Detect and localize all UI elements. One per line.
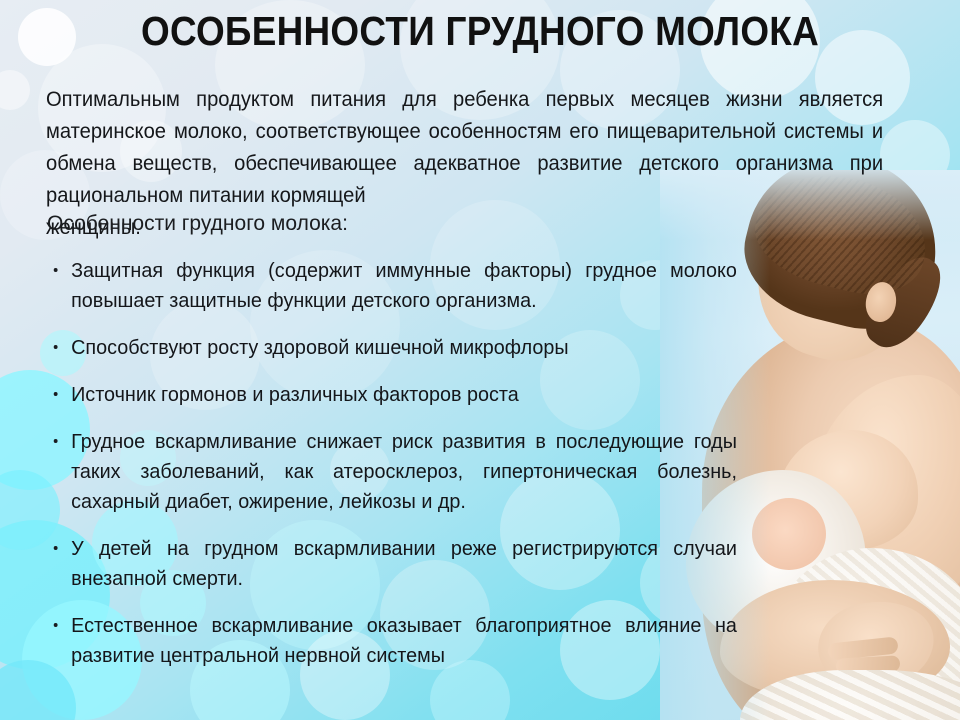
presentation-slide: ОСОБЕННОСТИ ГРУДНОГО МОЛОКА Оптимальным … <box>0 0 960 720</box>
list-item: Способствуют росту здоровой кишечной мик… <box>46 333 694 363</box>
list-item: Естественное вскармливание оказывает бла… <box>46 611 737 671</box>
list-item-text: У детей на грудном вскармливании реже ре… <box>71 537 737 590</box>
list-item-text: Способствуют росту здоровой кишечной мик… <box>71 336 569 359</box>
bullet-dot-icon <box>54 623 58 627</box>
bullet-dot-icon <box>54 546 58 550</box>
bullet-dot-icon <box>54 439 58 443</box>
list-item: Грудное вскармливание снижает риск разви… <box>46 427 737 517</box>
list-item: У детей на грудном вскармливании реже ре… <box>46 534 737 594</box>
subheading: Особенности грудного молока: <box>47 211 348 237</box>
bullet-dot-icon <box>54 392 58 396</box>
intro-text: Оптимальным продуктом питания для ребенк… <box>46 88 883 207</box>
bullet-dot-icon <box>54 345 58 349</box>
bullet-list: Защитная функция (содержит иммунные факт… <box>46 256 718 688</box>
list-item: Защитная функция (содержит иммунные факт… <box>46 256 737 316</box>
bullet-dot-icon <box>54 268 58 272</box>
list-item-text: Защитная функция (содержит иммунные факт… <box>71 259 737 312</box>
list-item-text: Источник гормонов и различных факторов р… <box>71 383 519 406</box>
list-item-text: Естественное вскармливание оказывает бла… <box>71 614 737 667</box>
list-item-text: Грудное вскармливание снижает риск разви… <box>71 430 737 513</box>
page-title: ОСОБЕННОСТИ ГРУДНОГО МОЛОКА <box>48 8 912 54</box>
list-item: Источник гормонов и различных факторов р… <box>46 380 694 410</box>
